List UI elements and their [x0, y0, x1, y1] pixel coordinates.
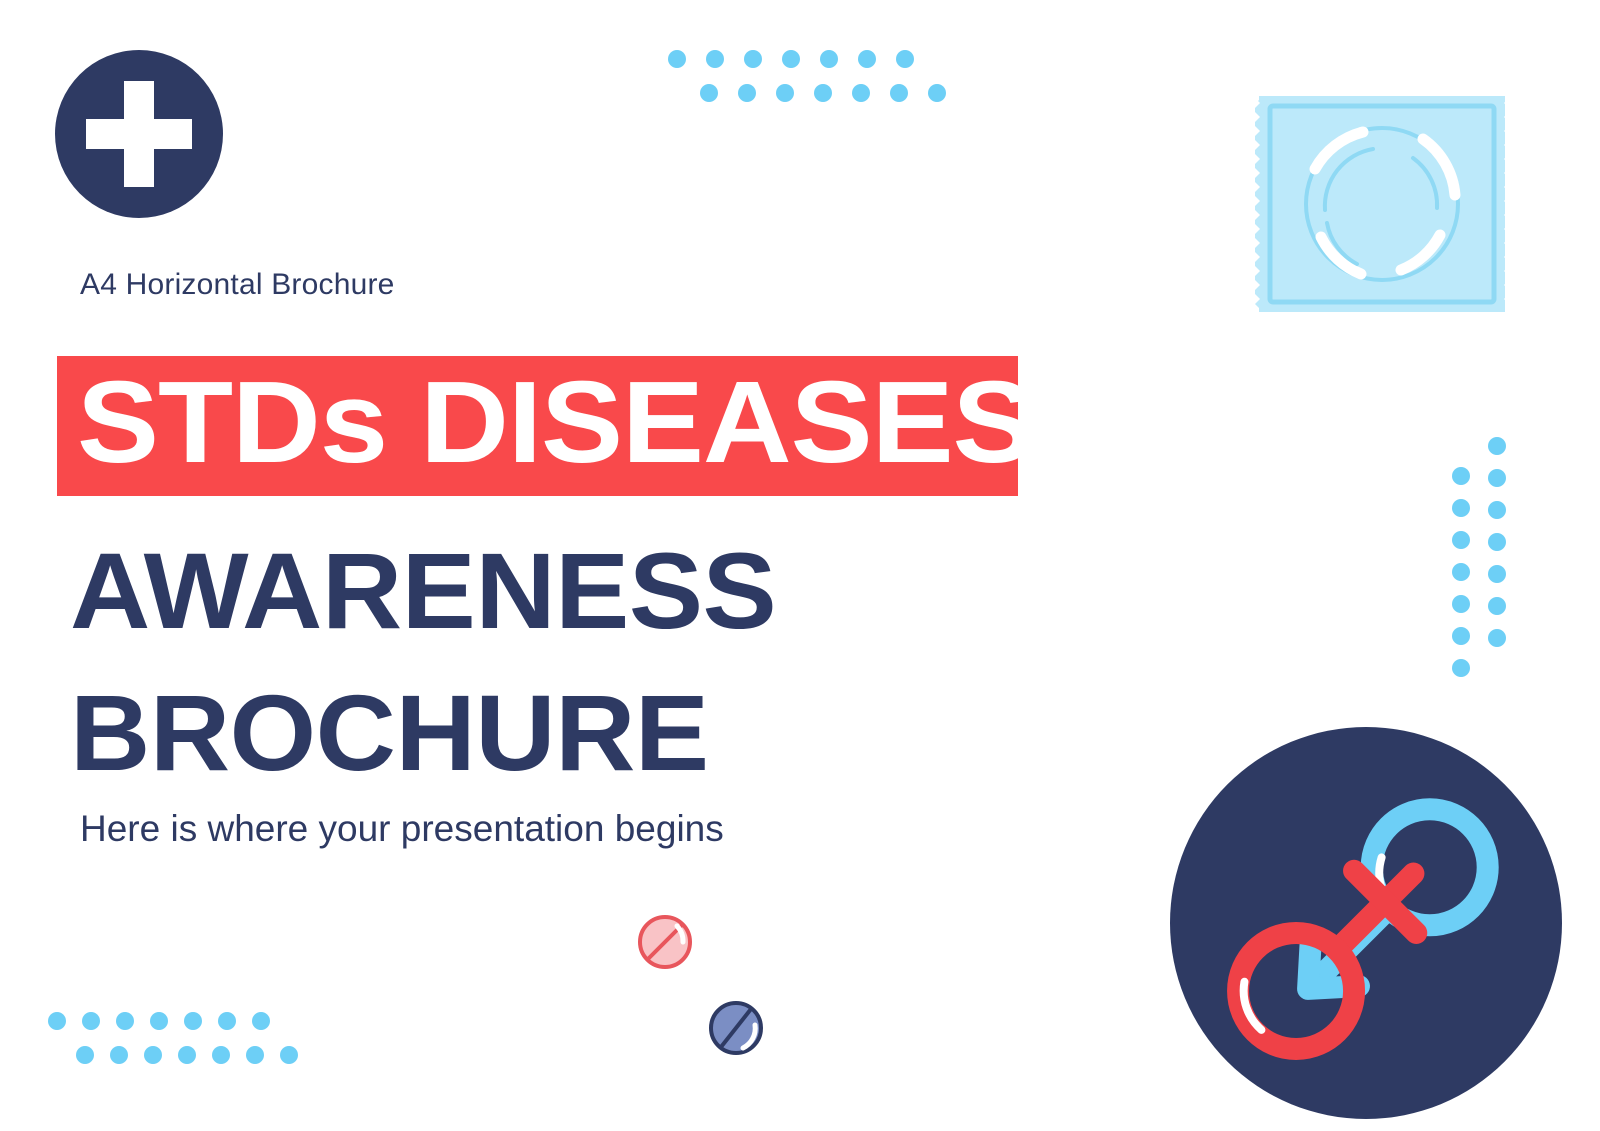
plus-circle-icon — [55, 50, 223, 218]
decorative-dot — [820, 50, 838, 68]
decorative-dot — [814, 84, 832, 102]
decorative-dot — [184, 1012, 202, 1030]
eyebrow-label: A4 Horizontal Brochure — [80, 268, 395, 302]
decorative-dot — [144, 1046, 162, 1064]
decorative-dot — [1488, 533, 1506, 551]
decorative-dot — [110, 1046, 128, 1064]
decorative-dot — [212, 1046, 230, 1064]
decorative-dot — [1452, 659, 1470, 677]
condom-wrapper-icon — [1253, 92, 1511, 316]
decorative-dot — [1488, 629, 1506, 647]
headline-line-1: AWARENESS — [70, 520, 997, 662]
decorative-dot — [48, 1012, 66, 1030]
plus-vertical-bar — [124, 81, 154, 187]
decorative-dot — [706, 50, 724, 68]
decorative-dot — [178, 1046, 196, 1064]
decorative-dot — [1452, 531, 1470, 549]
decorative-dot — [738, 84, 756, 102]
headline-line-2: BROCHURE — [70, 662, 997, 804]
decorative-dot — [700, 84, 718, 102]
decorative-dot — [858, 50, 876, 68]
decorative-dot — [1488, 469, 1506, 487]
decorative-dot — [246, 1046, 264, 1064]
decorative-dot — [782, 50, 800, 68]
decorative-dot — [218, 1012, 236, 1030]
decorative-dot — [1452, 563, 1470, 581]
decorative-dot — [1452, 595, 1470, 613]
subtitle-text: Here is where your presentation begins — [80, 808, 724, 850]
decorative-dot — [252, 1012, 270, 1030]
decorative-dot — [1488, 565, 1506, 583]
decorative-dot — [116, 1012, 134, 1030]
title-banner: STDs DISEASES — [57, 356, 1018, 496]
decorative-dot — [668, 50, 686, 68]
decorative-dot — [1488, 501, 1506, 519]
decorative-dot — [1452, 627, 1470, 645]
decorative-dot — [928, 84, 946, 102]
decorative-dot — [896, 50, 914, 68]
decorative-dot — [280, 1046, 298, 1064]
decorative-dot — [776, 84, 794, 102]
page-title: AWARENESS BROCHURE — [70, 520, 997, 804]
pill-icon — [707, 999, 765, 1057]
banner-title-text: STDs DISEASES — [77, 352, 1034, 492]
decorative-dot — [150, 1012, 168, 1030]
decorative-dot — [744, 50, 762, 68]
decorative-dot — [890, 84, 908, 102]
decorative-dot — [76, 1046, 94, 1064]
decorative-dot — [1488, 437, 1506, 455]
decorative-dot — [1488, 597, 1506, 615]
pill-icon — [636, 913, 694, 971]
decorative-dot — [82, 1012, 100, 1030]
decorative-dot — [1452, 467, 1470, 485]
decorative-dot — [852, 84, 870, 102]
male-female-symbols-icon — [1170, 727, 1562, 1119]
decorative-dot — [1452, 499, 1470, 517]
brochure-cover-slide: A4 Horizontal Brochure STDs DISEASES AWA… — [0, 0, 1600, 1131]
